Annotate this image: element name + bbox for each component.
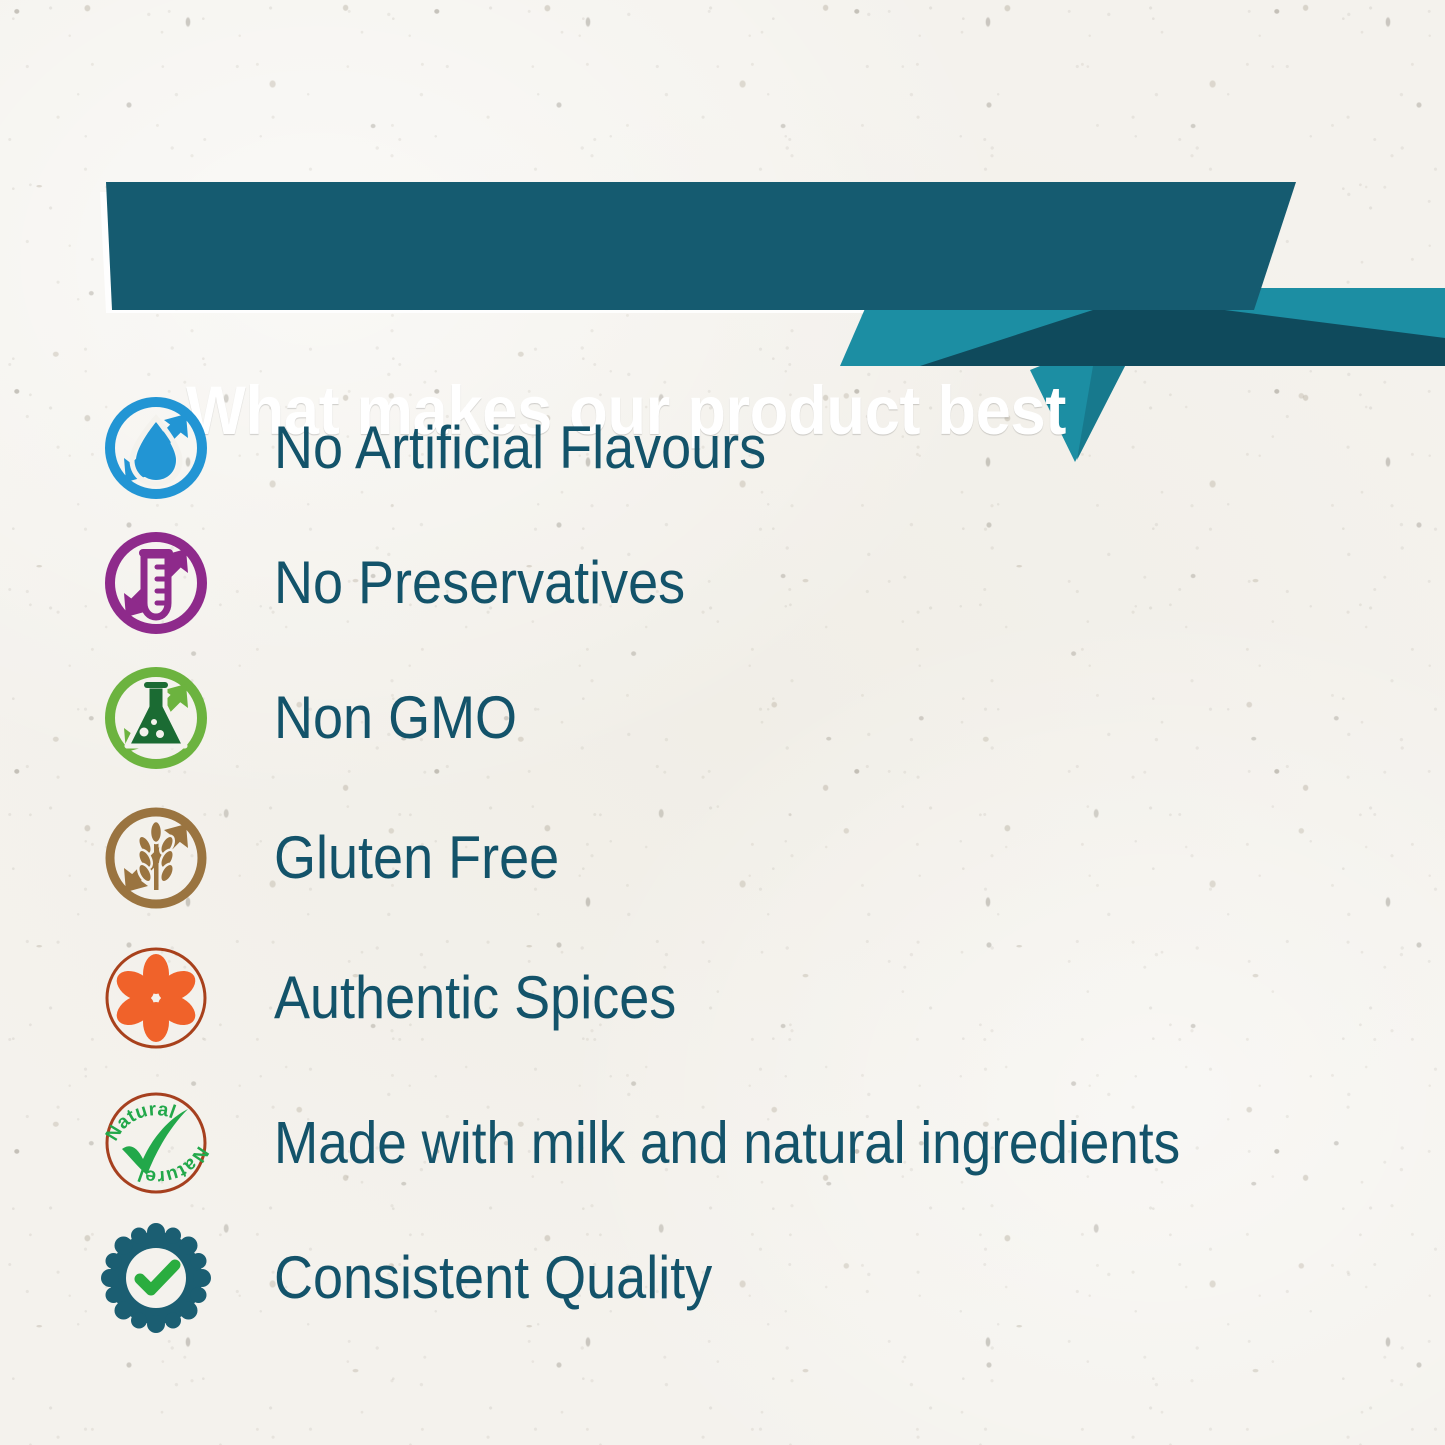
list-item: Natural Naturel Made with milk and natur… [100, 1083, 1400, 1203]
no-artificial-flavours-droplet-icon [100, 392, 212, 504]
gluten-free-wheat-icon [100, 802, 212, 914]
list-item-label: No Artificial Flavours [274, 418, 766, 478]
consistent-quality-badge-check-icon [100, 1222, 212, 1334]
natural-naturel-check-seal-icon: Natural Naturel [100, 1087, 212, 1199]
feature-list: No Artificial Flavours [0, 0, 1445, 1445]
non-gmo-flask-icon [100, 662, 212, 774]
product-benefits-poster: What makes our product best [0, 0, 1445, 1445]
list-item-label: Authentic Spices [274, 968, 676, 1028]
list-item-label: Made with milk and natural ingredients [274, 1114, 1180, 1173]
authentic-spices-flower-icon [100, 942, 212, 1054]
list-item-label: Gluten Free [274, 828, 559, 888]
list-item: Gluten Free [100, 798, 1400, 918]
list-item-label: Non GMO [274, 688, 517, 748]
list-item-label: No Preservatives [274, 553, 685, 613]
list-item: No Preservatives [100, 523, 1400, 643]
list-item: Non GMO [100, 658, 1400, 778]
list-item-label: Consistent Quality [274, 1248, 712, 1308]
list-item: Authentic Spices [100, 938, 1400, 1058]
list-item: Consistent Quality [100, 1218, 1400, 1338]
list-item: No Artificial Flavours [100, 388, 1400, 508]
no-preservatives-test-tube-icon [100, 527, 212, 639]
